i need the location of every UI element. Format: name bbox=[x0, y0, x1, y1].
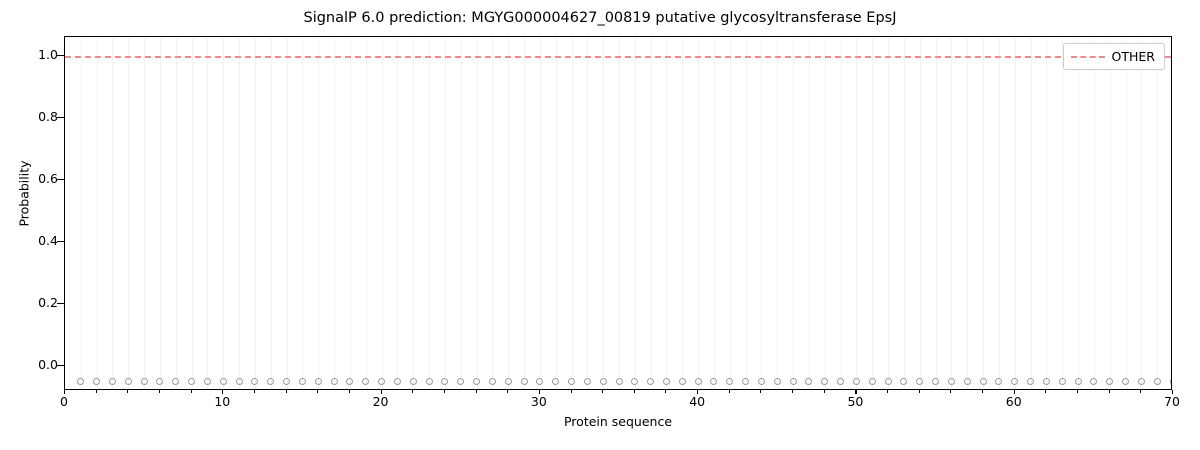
gridline bbox=[144, 37, 145, 389]
residue-marker bbox=[1059, 378, 1066, 385]
x-tick-minor bbox=[96, 390, 97, 393]
chart-title: SignalP 6.0 prediction: MGYG000004627_00… bbox=[0, 10, 1200, 26]
gridline bbox=[445, 37, 446, 389]
residue-marker bbox=[1043, 378, 1050, 385]
gridline bbox=[1046, 37, 1047, 389]
x-tick-minor bbox=[507, 390, 508, 393]
gridline bbox=[334, 37, 335, 389]
x-tick-mark bbox=[1172, 390, 1173, 394]
legend[interactable]: OTHER bbox=[1063, 43, 1165, 70]
gridline bbox=[603, 37, 604, 389]
x-tick-minor bbox=[127, 390, 128, 393]
gridline bbox=[540, 37, 541, 389]
x-tick-minor bbox=[887, 390, 888, 393]
gridline bbox=[318, 37, 319, 389]
x-tick-minor bbox=[1045, 390, 1046, 393]
residue-marker bbox=[885, 378, 892, 385]
y-tick-mark bbox=[57, 179, 64, 180]
gridline bbox=[413, 37, 414, 389]
legend-label-other: OTHER bbox=[1112, 49, 1155, 64]
gridline bbox=[1110, 37, 1111, 389]
gridline bbox=[856, 37, 857, 389]
gridline bbox=[825, 37, 826, 389]
gridline bbox=[920, 37, 921, 389]
x-tick-label: 20 bbox=[361, 394, 401, 409]
residue-marker bbox=[505, 378, 512, 385]
gridline bbox=[160, 37, 161, 389]
x-tick-mark bbox=[64, 390, 65, 394]
y-tick-label: 0.6 bbox=[18, 173, 58, 185]
x-tick-label: 30 bbox=[519, 394, 559, 409]
x-tick-mark bbox=[381, 390, 382, 394]
gridline bbox=[207, 37, 208, 389]
x-tick-minor bbox=[982, 390, 983, 393]
gridline bbox=[872, 37, 873, 389]
x-tick-minor bbox=[412, 390, 413, 393]
residue-marker bbox=[774, 378, 781, 385]
gridline bbox=[1157, 37, 1158, 389]
y-tick-label: 1.0 bbox=[18, 49, 58, 61]
gridline bbox=[1094, 37, 1095, 389]
gridline bbox=[255, 37, 256, 389]
x-tick-mark bbox=[1014, 390, 1015, 394]
residue-marker bbox=[236, 378, 243, 385]
gridline bbox=[97, 37, 98, 389]
vertical-gridlines bbox=[65, 37, 1171, 389]
residue-marker bbox=[410, 378, 417, 385]
gridline bbox=[382, 37, 383, 389]
x-tick-label: 50 bbox=[835, 394, 875, 409]
residue-marker bbox=[394, 378, 401, 385]
residue-marker bbox=[1075, 378, 1082, 385]
x-tick-minor bbox=[950, 390, 951, 393]
plot-area: MNPQISVIVPVYNGERYLHECIDSILNQNFTDFELILLDD… bbox=[64, 36, 1172, 390]
x-tick-minor bbox=[254, 390, 255, 393]
x-tick-mark bbox=[539, 390, 540, 394]
gridline bbox=[587, 37, 588, 389]
y-tick-mark bbox=[57, 365, 64, 366]
gridline bbox=[397, 37, 398, 389]
y-tick-label: 0.0 bbox=[18, 359, 58, 371]
gridline bbox=[951, 37, 952, 389]
gridline bbox=[1031, 37, 1032, 389]
gridline bbox=[461, 37, 462, 389]
y-tick-mark bbox=[57, 241, 64, 242]
gridline bbox=[128, 37, 129, 389]
y-tick-label: 0.8 bbox=[18, 111, 58, 123]
y-axis-label: Probability bbox=[17, 64, 32, 324]
residue-marker bbox=[489, 378, 496, 385]
gridline bbox=[999, 37, 1000, 389]
x-tick-label: 10 bbox=[202, 394, 242, 409]
x-axis-label: Protein sequence bbox=[64, 414, 1172, 429]
gridline bbox=[904, 37, 905, 389]
y-tick-label: 0.4 bbox=[18, 235, 58, 247]
residue-marker bbox=[315, 378, 322, 385]
x-tick-minor bbox=[665, 390, 666, 393]
legend-line-other bbox=[1071, 56, 1105, 58]
x-tick-minor bbox=[571, 390, 572, 393]
gridline bbox=[1062, 37, 1063, 389]
x-tick-minor bbox=[191, 390, 192, 393]
gridline bbox=[888, 37, 889, 389]
gridline bbox=[730, 37, 731, 389]
x-tick-minor bbox=[317, 390, 318, 393]
gridline bbox=[572, 37, 573, 389]
gridline bbox=[777, 37, 778, 389]
gridline bbox=[1126, 37, 1127, 389]
x-tick-minor bbox=[729, 390, 730, 393]
residue-marker bbox=[980, 378, 987, 385]
x-tick-minor bbox=[1077, 390, 1078, 393]
gridline bbox=[714, 37, 715, 389]
residue-marker bbox=[521, 378, 528, 385]
residue-marker bbox=[426, 378, 433, 385]
residue-marker bbox=[679, 378, 686, 385]
gridline bbox=[793, 37, 794, 389]
x-tick-label: 40 bbox=[677, 394, 717, 409]
x-tick-minor bbox=[919, 390, 920, 393]
residue-marker bbox=[331, 378, 338, 385]
gridline bbox=[809, 37, 810, 389]
x-tick-minor bbox=[760, 390, 761, 393]
x-tick-minor bbox=[444, 390, 445, 393]
signalp-prediction-figure: SignalP 6.0 prediction: MGYG000004627_00… bbox=[0, 0, 1200, 450]
gridline bbox=[81, 37, 82, 389]
gridline bbox=[983, 37, 984, 389]
residue-marker bbox=[584, 378, 591, 385]
x-tick-minor bbox=[349, 390, 350, 393]
x-tick-minor bbox=[792, 390, 793, 393]
gridline bbox=[192, 37, 193, 389]
gridline bbox=[666, 37, 667, 389]
gridline bbox=[477, 37, 478, 389]
other-probability-line bbox=[65, 56, 1171, 58]
residue-marker bbox=[220, 378, 227, 385]
x-tick-minor bbox=[1140, 390, 1141, 393]
gridline bbox=[698, 37, 699, 389]
x-tick-minor bbox=[476, 390, 477, 393]
gridline bbox=[287, 37, 288, 389]
x-tick-label: 70 bbox=[1152, 394, 1192, 409]
y-tick-mark bbox=[57, 55, 64, 56]
residue-marker bbox=[948, 378, 955, 385]
gridline bbox=[429, 37, 430, 389]
gridline bbox=[1141, 37, 1142, 389]
x-tick-mark bbox=[855, 390, 856, 394]
y-tick-label: 0.2 bbox=[18, 297, 58, 309]
y-tick-mark bbox=[57, 303, 64, 304]
x-tick-mark bbox=[222, 390, 223, 394]
gridline bbox=[841, 37, 842, 389]
x-tick-minor bbox=[1109, 390, 1110, 393]
gridline bbox=[967, 37, 968, 389]
residue-marker bbox=[125, 378, 132, 385]
residue-marker bbox=[964, 378, 971, 385]
gridline bbox=[682, 37, 683, 389]
x-tick-minor bbox=[602, 390, 603, 393]
gridline bbox=[508, 37, 509, 389]
gridline bbox=[271, 37, 272, 389]
gridline bbox=[1078, 37, 1079, 389]
gridline bbox=[350, 37, 351, 389]
gridline bbox=[223, 37, 224, 389]
residue-marker bbox=[600, 378, 607, 385]
gridline bbox=[176, 37, 177, 389]
residue-marker bbox=[1138, 378, 1145, 385]
gridline bbox=[556, 37, 557, 389]
x-tick-label: 0 bbox=[44, 394, 84, 409]
gridline bbox=[619, 37, 620, 389]
gridline bbox=[635, 37, 636, 389]
gridline bbox=[524, 37, 525, 389]
x-tick-label: 60 bbox=[994, 394, 1034, 409]
residue-marker bbox=[1154, 378, 1161, 385]
gridline bbox=[1015, 37, 1016, 389]
gridline bbox=[936, 37, 937, 389]
residue-marker bbox=[869, 378, 876, 385]
y-tick-mark bbox=[57, 117, 64, 118]
gridline bbox=[651, 37, 652, 389]
gridline bbox=[112, 37, 113, 389]
residue-marker bbox=[695, 378, 702, 385]
residue-marker bbox=[141, 378, 148, 385]
gridline bbox=[761, 37, 762, 389]
gridline bbox=[302, 37, 303, 389]
residue-marker bbox=[616, 378, 623, 385]
x-tick-minor bbox=[286, 390, 287, 393]
gridline bbox=[239, 37, 240, 389]
x-tick-mark bbox=[697, 390, 698, 394]
gridline bbox=[746, 37, 747, 389]
x-tick-minor bbox=[634, 390, 635, 393]
x-tick-minor bbox=[159, 390, 160, 393]
x-tick-minor bbox=[824, 390, 825, 393]
gridline bbox=[366, 37, 367, 389]
gridline bbox=[492, 37, 493, 389]
residue-marker bbox=[790, 378, 797, 385]
